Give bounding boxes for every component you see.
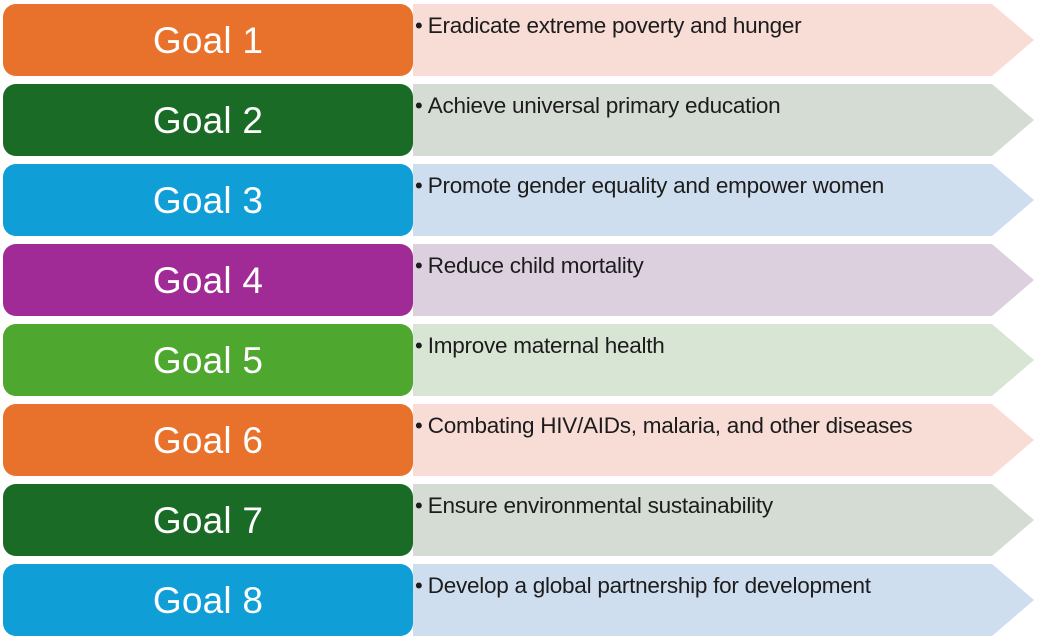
goal-label-box-7[interactable]: Goal 7 (3, 484, 413, 556)
goal-label-box-1[interactable]: Goal 1 (3, 4, 413, 76)
goal-arrow-banner-8 (413, 564, 1034, 636)
goal-row-4: Goal 4•Reduce child mortality (0, 240, 1047, 320)
goal-label-6: Goal 6 (153, 422, 263, 459)
goal-label-box-5[interactable]: Goal 5 (3, 324, 413, 396)
goal-row-7: Goal 7•Ensure environmental sustainabili… (0, 480, 1047, 560)
goal-row-1: Goal 1•Eradicate extreme poverty and hun… (0, 0, 1047, 80)
millennium-development-goals-diagram: Goal 1•Eradicate extreme poverty and hun… (0, 0, 1047, 643)
chevron-arrow-icon (413, 84, 1034, 156)
goal-label-4: Goal 4 (153, 262, 263, 299)
goal-label-box-4[interactable]: Goal 4 (3, 244, 413, 316)
goal-row-2: Goal 2•Achieve universal primary educati… (0, 80, 1047, 160)
goal-arrow-banner-1 (413, 4, 1034, 76)
goal-label-box-3[interactable]: Goal 3 (3, 164, 413, 236)
chevron-arrow-icon (413, 404, 1034, 476)
chevron-arrow-icon (413, 164, 1034, 236)
chevron-arrow-icon (413, 324, 1034, 396)
goal-row-5: Goal 5•Improve maternal health (0, 320, 1047, 400)
goal-label-3: Goal 3 (153, 182, 263, 219)
goal-label-8: Goal 8 (153, 582, 263, 619)
goal-row-3: Goal 3•Promote gender equality and empow… (0, 160, 1047, 240)
chevron-arrow-icon (413, 244, 1034, 316)
goal-label-box-6[interactable]: Goal 6 (3, 404, 413, 476)
chevron-arrow-icon (413, 484, 1034, 556)
goal-arrow-banner-2 (413, 84, 1034, 156)
goal-label-2: Goal 2 (153, 102, 263, 139)
goal-label-5: Goal 5 (153, 342, 263, 379)
goal-arrow-banner-5 (413, 324, 1034, 396)
goal-label-7: Goal 7 (153, 502, 263, 539)
goal-arrow-banner-6 (413, 404, 1034, 476)
chevron-arrow-icon (413, 564, 1034, 636)
goal-label-box-2[interactable]: Goal 2 (3, 84, 413, 156)
goal-row-6: Goal 6•Combating HIV/AIDs, malaria, and … (0, 400, 1047, 480)
goal-row-8: Goal 8•Develop a global partnership for … (0, 560, 1047, 640)
goal-label-1: Goal 1 (153, 22, 263, 59)
goal-label-box-8[interactable]: Goal 8 (3, 564, 413, 636)
chevron-arrow-icon (413, 4, 1034, 76)
goal-arrow-banner-3 (413, 164, 1034, 236)
goal-arrow-banner-4 (413, 244, 1034, 316)
goal-arrow-banner-7 (413, 484, 1034, 556)
